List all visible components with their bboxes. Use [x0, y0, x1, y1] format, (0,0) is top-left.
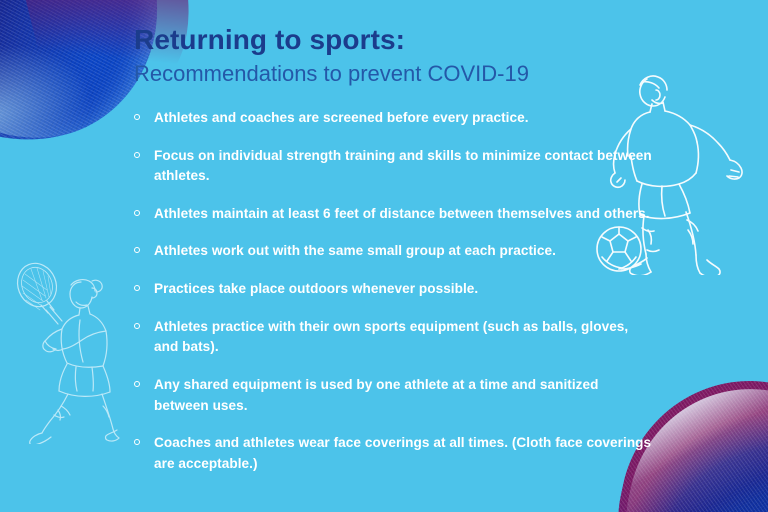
- tennis-player-line-art-icon: [6, 254, 124, 444]
- list-item-text: Athletes practice with their own sports …: [154, 319, 628, 355]
- bullet-circle-icon: [134, 285, 140, 291]
- bullet-circle-icon: [134, 439, 140, 445]
- list-item: Focus on individual strength training an…: [134, 146, 654, 187]
- list-item: Coaches and athletes wear face coverings…: [134, 433, 654, 474]
- bullet-circle-icon: [134, 210, 140, 216]
- page-subtitle: Recommendations to prevent COVID-19: [134, 61, 654, 87]
- poster-canvas: Returning to sports: Recommendations to …: [0, 0, 768, 512]
- list-item: Athletes maintain at least 6 feet of dis…: [134, 204, 654, 225]
- list-item-text: Athletes work out with the same small gr…: [154, 243, 556, 258]
- list-item: Athletes and coaches are screened before…: [134, 108, 654, 129]
- bullet-circle-icon: [134, 323, 140, 329]
- list-item-text: Athletes maintain at least 6 feet of dis…: [154, 206, 650, 221]
- list-item-text: Coaches and athletes wear face coverings…: [154, 435, 651, 471]
- bullet-circle-icon: [134, 152, 140, 158]
- list-item: Athletes work out with the same small gr…: [134, 241, 654, 262]
- bullet-circle-icon: [134, 114, 140, 120]
- list-item: Any shared equipment is used by one athl…: [134, 375, 654, 416]
- list-item-text: Athletes and coaches are screened before…: [154, 110, 529, 125]
- recommendation-list: Athletes and coaches are screened before…: [134, 108, 654, 475]
- list-item-text: Any shared equipment is used by one athl…: [154, 377, 599, 413]
- list-item-text: Focus on individual strength training an…: [154, 148, 652, 184]
- poster-content: Returning to sports: Recommendations to …: [134, 24, 654, 475]
- list-item: Practices take place outdoors whenever p…: [134, 279, 654, 300]
- bullet-circle-icon: [134, 381, 140, 387]
- list-item-text: Practices take place outdoors whenever p…: [154, 281, 478, 296]
- page-title: Returning to sports:: [134, 24, 654, 56]
- bullet-circle-icon: [134, 247, 140, 253]
- list-item: Athletes practice with their own sports …: [134, 317, 654, 358]
